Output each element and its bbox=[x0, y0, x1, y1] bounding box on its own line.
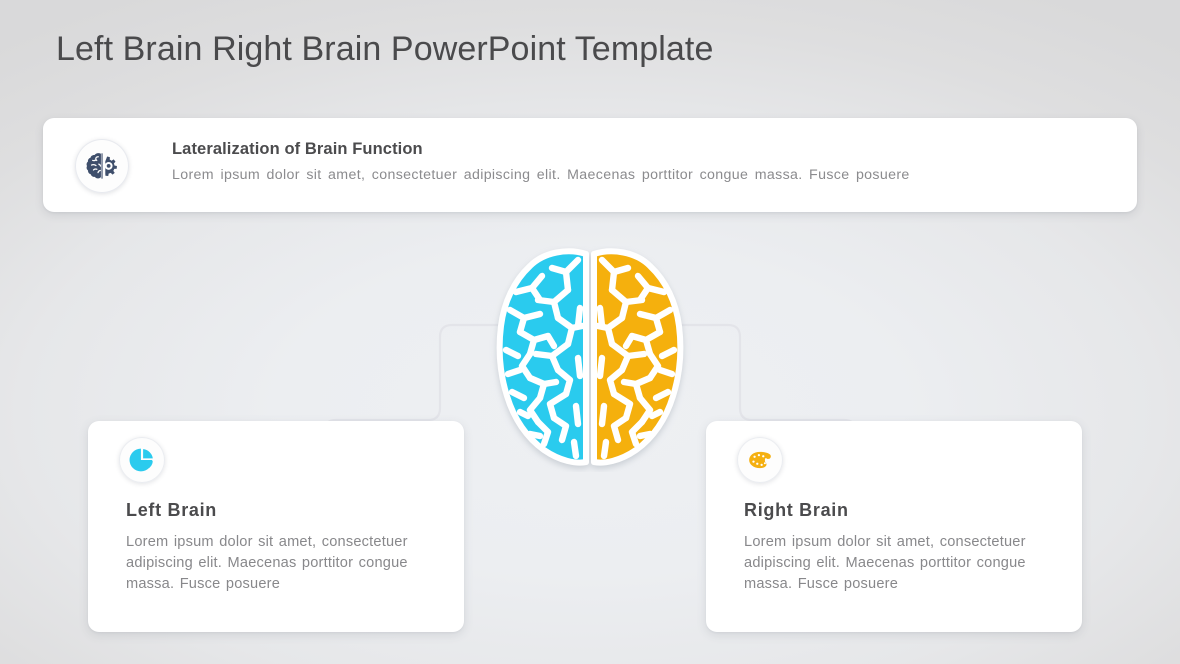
banner-body: Lorem ipsum dolor sit amet, consectetuer… bbox=[172, 167, 1113, 183]
right-brain-body: Lorem ipsum dolor sit amet, consectetuer… bbox=[744, 532, 1064, 595]
pie-chart-icon bbox=[129, 447, 155, 473]
right-brain-heading: Right Brain bbox=[744, 500, 849, 521]
left-hemisphere bbox=[500, 251, 586, 462]
banner-text-block: Lateralization of Brain Function Lorem i… bbox=[172, 140, 1113, 183]
page-title: Left Brain Right Brain PowerPoint Templa… bbox=[56, 30, 713, 69]
left-brain-icon-container bbox=[119, 437, 165, 483]
brain-graphic bbox=[482, 246, 698, 472]
slide-canvas: Left Brain Right Brain PowerPoint Templa… bbox=[0, 0, 1180, 664]
brain-gear-icon bbox=[85, 149, 119, 183]
left-brain-body: Lorem ipsum dolor sit amet, consectetuer… bbox=[126, 532, 446, 595]
palette-icon bbox=[747, 447, 773, 473]
banner-icon-container bbox=[75, 139, 129, 193]
info-card-right-brain[interactable]: Right Brain Lorem ipsum dolor sit amet, … bbox=[706, 421, 1082, 632]
right-hemisphere bbox=[594, 251, 680, 462]
left-brain-heading: Left Brain bbox=[126, 500, 217, 521]
banner-card[interactable]: Lateralization of Brain Function Lorem i… bbox=[43, 118, 1137, 212]
info-card-left-brain[interactable]: Left Brain Lorem ipsum dolor sit amet, c… bbox=[88, 421, 464, 632]
banner-heading: Lateralization of Brain Function bbox=[172, 140, 1113, 159]
right-brain-icon-container bbox=[737, 437, 783, 483]
